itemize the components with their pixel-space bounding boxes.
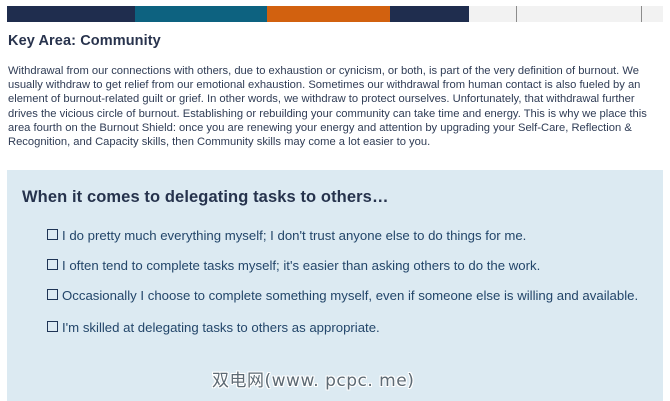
answer-option[interactable]: I'm skilled at delegating tasks to other… [47, 318, 647, 337]
burnout-shield-progress-bar [7, 6, 663, 22]
progress-segment-self-care[interactable] [7, 6, 135, 22]
question-panel: When it comes to delegating tasks to oth… [7, 170, 663, 401]
body-paragraph: Withdrawal from our connections with oth… [8, 64, 656, 149]
progress-segment-upcoming-3[interactable] [642, 6, 663, 22]
question-heading: When it comes to delegating tasks to oth… [22, 188, 389, 207]
checkbox-icon[interactable] [47, 321, 58, 332]
answer-option-label: I'm skilled at delegating tasks to other… [62, 318, 647, 337]
progress-segment-upcoming-1[interactable] [469, 6, 517, 22]
answer-option[interactable]: I often tend to complete tasks myself; i… [47, 256, 647, 275]
progress-segment-community[interactable] [390, 6, 469, 22]
answer-option-label: I do pretty much everything myself; I do… [62, 226, 647, 245]
answer-option-label: I often tend to complete tasks myself; i… [62, 256, 647, 275]
page-title: Key Area: Community [8, 33, 161, 49]
answer-options-list: I do pretty much everything myself; I do… [47, 226, 647, 348]
progress-segment-upcoming-2[interactable] [517, 6, 642, 22]
answer-option[interactable]: Occasionally I choose to complete someth… [47, 286, 647, 305]
checkbox-icon[interactable] [47, 229, 58, 240]
checkbox-icon[interactable] [47, 289, 58, 300]
progress-segment-capacity[interactable] [267, 6, 390, 22]
answer-option[interactable]: I do pretty much everything myself; I do… [47, 226, 647, 245]
checkbox-icon[interactable] [47, 259, 58, 270]
progress-segment-reflection-recognition[interactable] [135, 6, 267, 22]
answer-option-label: Occasionally I choose to complete someth… [62, 286, 647, 305]
